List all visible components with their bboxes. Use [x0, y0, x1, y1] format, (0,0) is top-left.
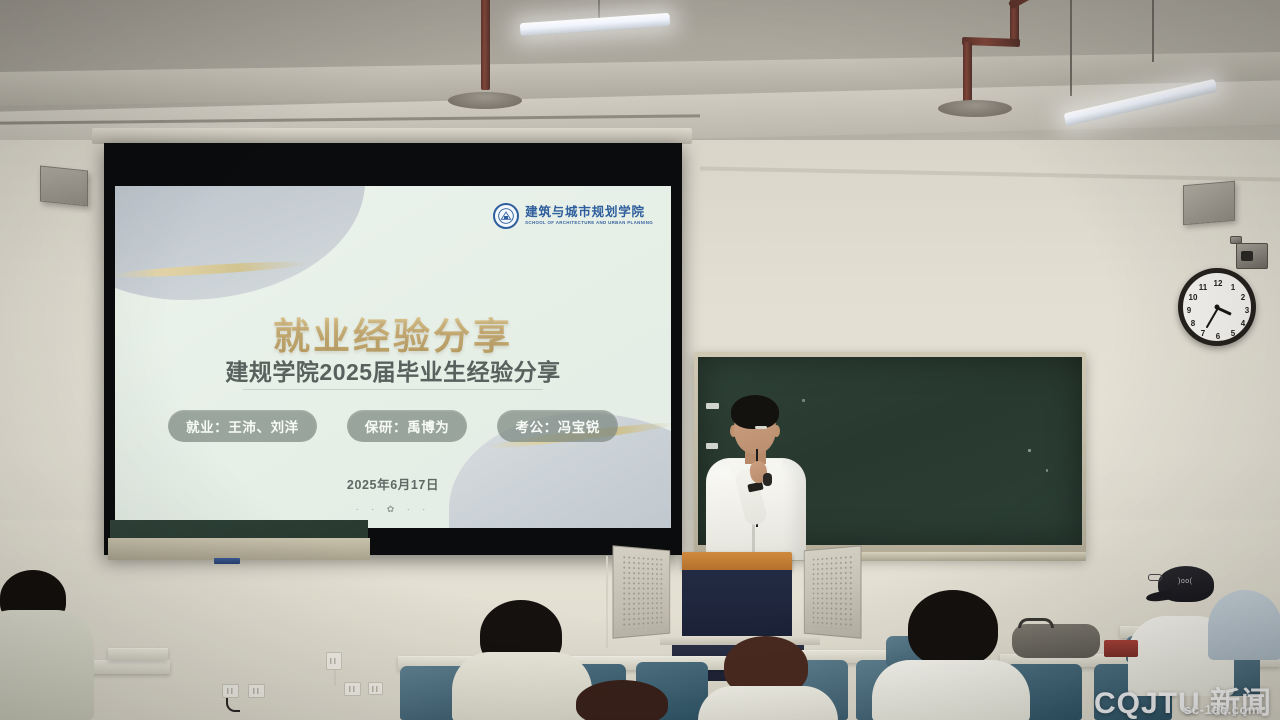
wall-speaker-left — [40, 165, 88, 206]
podium-speaker-right — [804, 545, 862, 638]
clock-number: 8 — [1187, 318, 1199, 330]
light-rod-b — [1152, 0, 1154, 62]
red-book — [1104, 640, 1138, 657]
chalkboard-eraser — [214, 558, 240, 564]
audience-glasses-icon — [1148, 574, 1162, 581]
camera-lens-icon — [1241, 251, 1253, 261]
school-logo: 建筑与城市规划学院 SCHOOL OF ARCHITECTURE AND URB… — [493, 203, 653, 229]
speaker-grill — [622, 554, 663, 629]
audience-hair — [908, 590, 998, 666]
speaker-pill-employment: 就业：王沛、刘洋 — [168, 410, 317, 442]
podium-speaker-left — [612, 545, 670, 638]
ceiling-pipe-disc-right — [938, 100, 1012, 117]
speaker-grill — [811, 554, 852, 629]
lecture-hall-photo: 12 1 2 3 4 5 6 7 8 9 10 11 — [0, 0, 1280, 720]
presentation-slide: 建筑与城市规划学院 SCHOOL OF ARCHITECTURE AND URB… — [115, 186, 671, 528]
podium-cable — [606, 556, 608, 648]
wall-clock: 12 1 2 3 4 5 6 7 8 9 10 11 — [1178, 268, 1256, 346]
presenter-headset-band — [755, 426, 767, 429]
slide-dot-ornament-icon: · · ✿ · · — [115, 504, 671, 515]
wall-outlet[interactable] — [368, 682, 383, 695]
clock-number: 6 — [1212, 331, 1224, 343]
podium-body — [682, 570, 792, 642]
ceiling-pipe-vertical-left — [481, 0, 490, 90]
cap-logo-icon: )oo( — [1178, 578, 1192, 585]
clock-face: 12 1 2 3 4 5 6 7 8 9 10 11 — [1183, 273, 1251, 341]
clock-minute-hand — [1205, 308, 1218, 329]
security-camera — [1236, 243, 1268, 269]
backpack — [1012, 624, 1100, 658]
clock-number: 2 — [1237, 292, 1249, 304]
wall-outlet[interactable] — [248, 684, 265, 698]
wall-outlet[interactable] — [344, 682, 361, 696]
audience-torso — [872, 660, 1030, 720]
school-name-en: SCHOOL OF ARCHITECTURE AND URBAN PLANNIN… — [525, 221, 653, 225]
chalk-dust — [1046, 469, 1048, 472]
microphone-icon — [763, 473, 772, 486]
clock-center-pin — [1215, 305, 1220, 310]
speaker-pill-postgrad: 保研：禹博为 — [347, 410, 468, 442]
wall-switch[interactable] — [326, 652, 342, 670]
projection-screen-housing — [92, 128, 692, 144]
switch-conduit — [334, 670, 336, 686]
clock-number: 5 — [1227, 328, 1239, 340]
projection-screen: 建筑与城市规划学院 SCHOOL OF ARCHITECTURE AND URB… — [104, 143, 682, 555]
school-name-cn: 建筑与城市规划学院 — [525, 206, 653, 219]
slide-title: 就业经验分享 — [115, 306, 671, 360]
clock-number: 9 — [1183, 305, 1195, 317]
chalk-dust — [1028, 449, 1031, 452]
presenter-hair — [731, 395, 779, 429]
school-logo-text: 建筑与城市规划学院 SCHOOL OF ARCHITECTURE AND URB… — [525, 206, 653, 225]
slide-content: 建筑与城市规划学院 SCHOOL OF ARCHITECTURE AND URB… — [115, 186, 671, 528]
clock-number: 12 — [1212, 278, 1224, 290]
light-rod-c — [1070, 0, 1072, 96]
speaker-pill-civilservice: 考公：冯宝锐 — [497, 410, 618, 442]
audience-torso — [1208, 590, 1280, 660]
slide-date: 2025年6月17日 — [115, 474, 671, 493]
audience-torso — [698, 686, 838, 720]
audience-torso — [452, 652, 592, 720]
podium-desktop — [682, 552, 792, 570]
slide-speaker-pills: 就业：王沛、刘洋 保研：禹博为 考公：冯宝锐 — [115, 410, 671, 442]
presenter — [700, 395, 812, 560]
ceiling-pipe-disc-left — [448, 92, 522, 109]
wall-outlet[interactable] — [222, 684, 239, 698]
school-emblem-icon — [493, 203, 519, 229]
clock-number: 11 — [1197, 282, 1209, 294]
audience-torso — [0, 610, 94, 720]
clock-number: 3 — [1241, 305, 1253, 317]
audience-hair — [576, 680, 668, 720]
desk-row — [108, 648, 168, 660]
camera-mount — [1230, 236, 1242, 244]
backpack-strap — [1018, 618, 1054, 628]
slide-divider — [243, 389, 543, 390]
watermark-sub: sc-1ac.com — [1184, 703, 1260, 716]
slide-subtitle: 建规学院2025届毕业生经验分享 — [115, 353, 671, 387]
watermark: CQJTU 新闻 sc-1ac.com — [1094, 689, 1272, 716]
chalkboard-left-ledge — [108, 538, 370, 560]
ceiling-pipe-drop — [963, 42, 972, 104]
wall-speaker-right — [1183, 181, 1235, 226]
